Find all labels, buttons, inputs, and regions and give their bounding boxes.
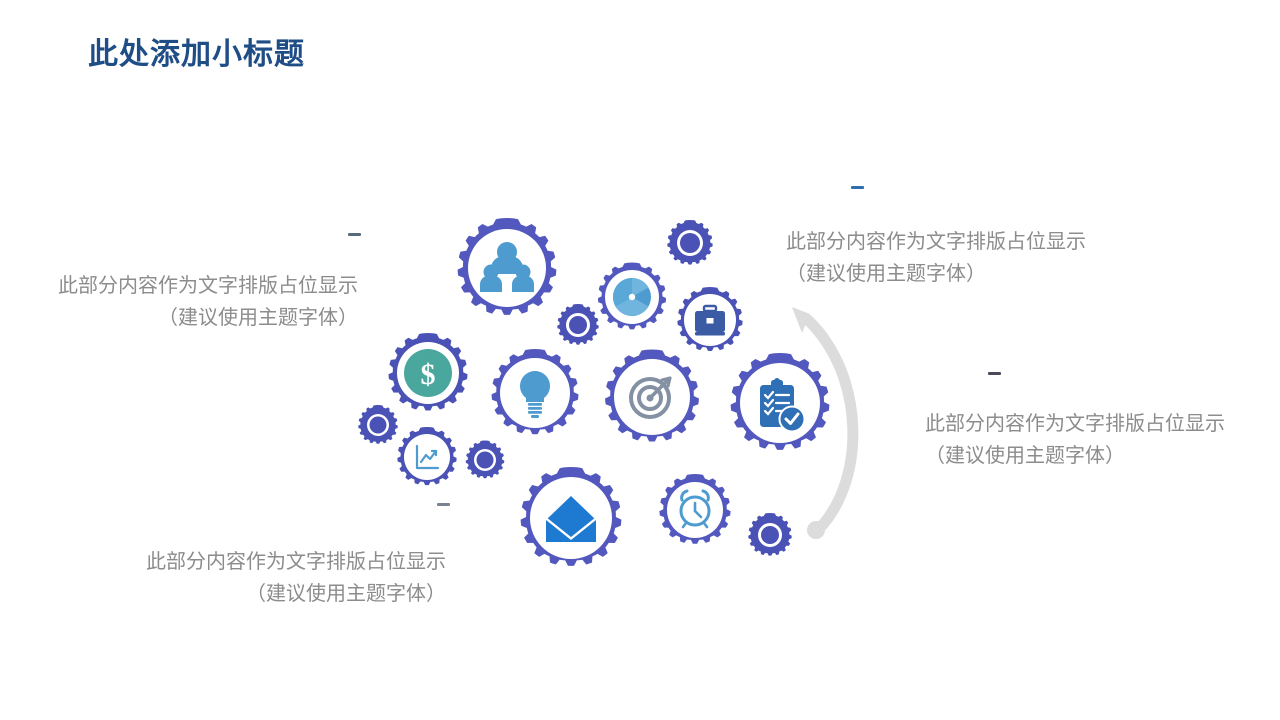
gear-pie-chart [598,263,666,330]
svg-text:$: $ [421,358,436,391]
page-title: 此处添加小标题 [88,29,305,73]
dash-marker-2 [851,186,864,189]
gear-envelope [521,467,622,566]
caption-right-line2: （建议使用主题字体） [925,440,1255,472]
gear-lightbulb [492,349,579,434]
caption-left-line2: （建议使用主题字体） [28,302,358,334]
caption-left-line1: 此部分内容作为文字排版占位显示 [28,270,358,302]
gear-alarm-clock [659,474,730,544]
gear-dollar: $ [388,333,467,411]
gear-target [605,350,699,442]
caption-left: 此部分内容作为文字排版占位显示 （建议使用主题字体） [28,270,358,334]
caption-bottom-line2: （建议使用主题字体） [116,578,446,610]
dash-marker-3 [988,372,1001,375]
caption-right: 此部分内容作为文字排版占位显示 （建议使用主题字体） [925,408,1255,472]
caption-top-right-line2: （建议使用主题字体） [786,258,1126,290]
gear-clipboard [731,353,830,450]
caption-bottom-line1: 此部分内容作为文字排版占位显示 [116,546,446,578]
caption-right-line1: 此部分内容作为文字排版占位显示 [925,408,1255,440]
dash-marker-1 [348,233,361,236]
dash-marker-4 [437,503,450,506]
caption-top-right-line1: 此部分内容作为文字排版占位显示 [786,226,1126,258]
caption-bottom: 此部分内容作为文字排版占位显示 （建议使用主题字体） [116,546,446,610]
gear-growth-chart [397,427,456,485]
gear-briefcase [677,287,742,351]
gear-people [458,218,557,315]
pie-chart-icon [613,278,651,316]
caption-top-right: 此部分内容作为文字排版占位显示 （建议使用主题字体） [786,226,1126,290]
